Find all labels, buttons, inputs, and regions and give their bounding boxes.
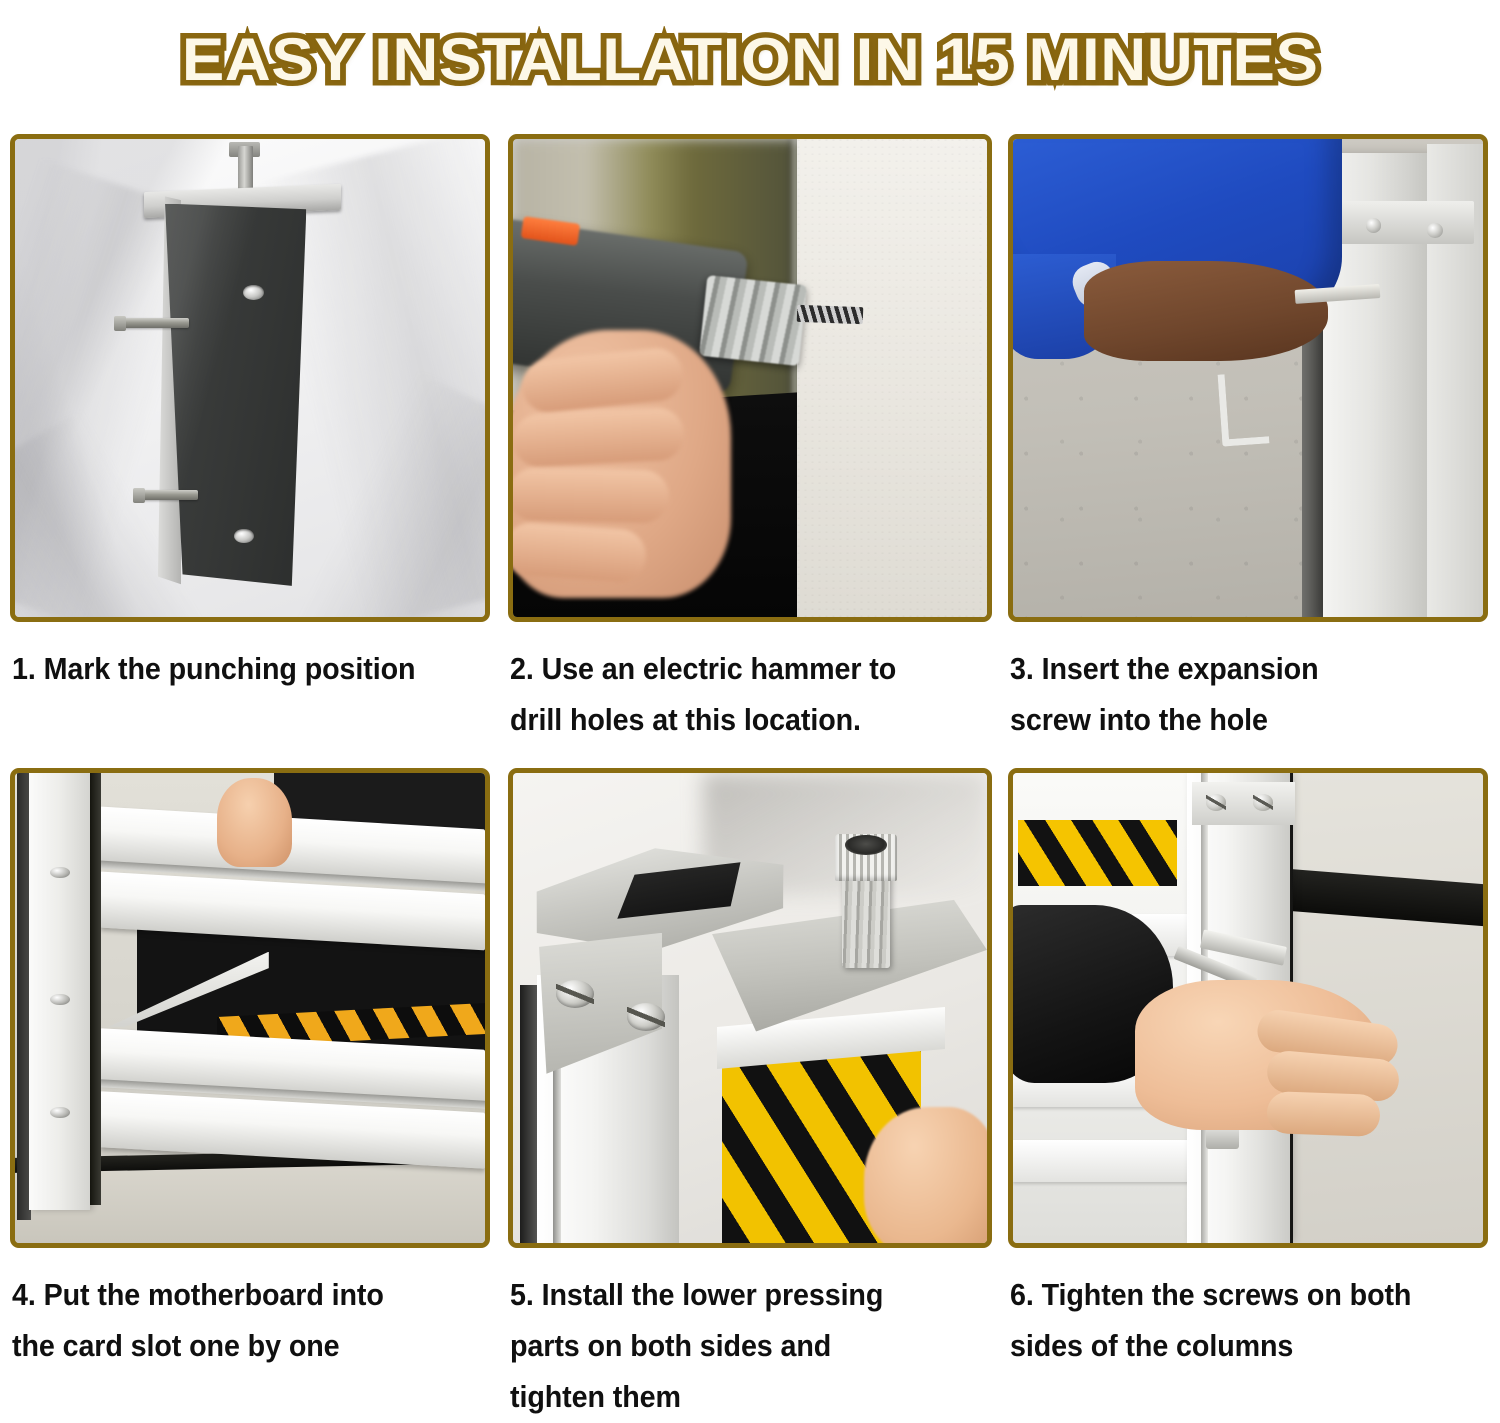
- page-title: EASY INSTALLATION IN 15 MINUTES: [182, 30, 1319, 90]
- installation-guide-page: EASY INSTALLATION IN 15 MINUTES: [0, 0, 1500, 1403]
- step-caption-1: 1. Mark the punching position: [12, 644, 463, 695]
- header-banner: EASY INSTALLATION IN 15 MINUTES: [0, 0, 1500, 120]
- step-caption-6: 6. Tighten the screws on both sides of t…: [1010, 1270, 1461, 1372]
- step-photo-5: [508, 768, 992, 1248]
- step-caption-3: 3. Insert the expansion screw into the h…: [1010, 644, 1461, 746]
- step-caption-5: 5. Install the lower pressing parts on b…: [510, 1270, 965, 1423]
- step-photo-2: [508, 134, 992, 622]
- step-caption-4: 4. Put the motherboard into the card slo…: [12, 1270, 463, 1372]
- steps-grid: 1. Mark the punching position: [0, 120, 1500, 1403]
- step-caption-2: 2. Use an electric hammer to drill holes…: [510, 644, 965, 746]
- step-photo-6: [1008, 768, 1488, 1248]
- step-photo-1: [10, 134, 490, 622]
- step-photo-3: [1008, 134, 1488, 622]
- step-photo-4: [10, 768, 490, 1248]
